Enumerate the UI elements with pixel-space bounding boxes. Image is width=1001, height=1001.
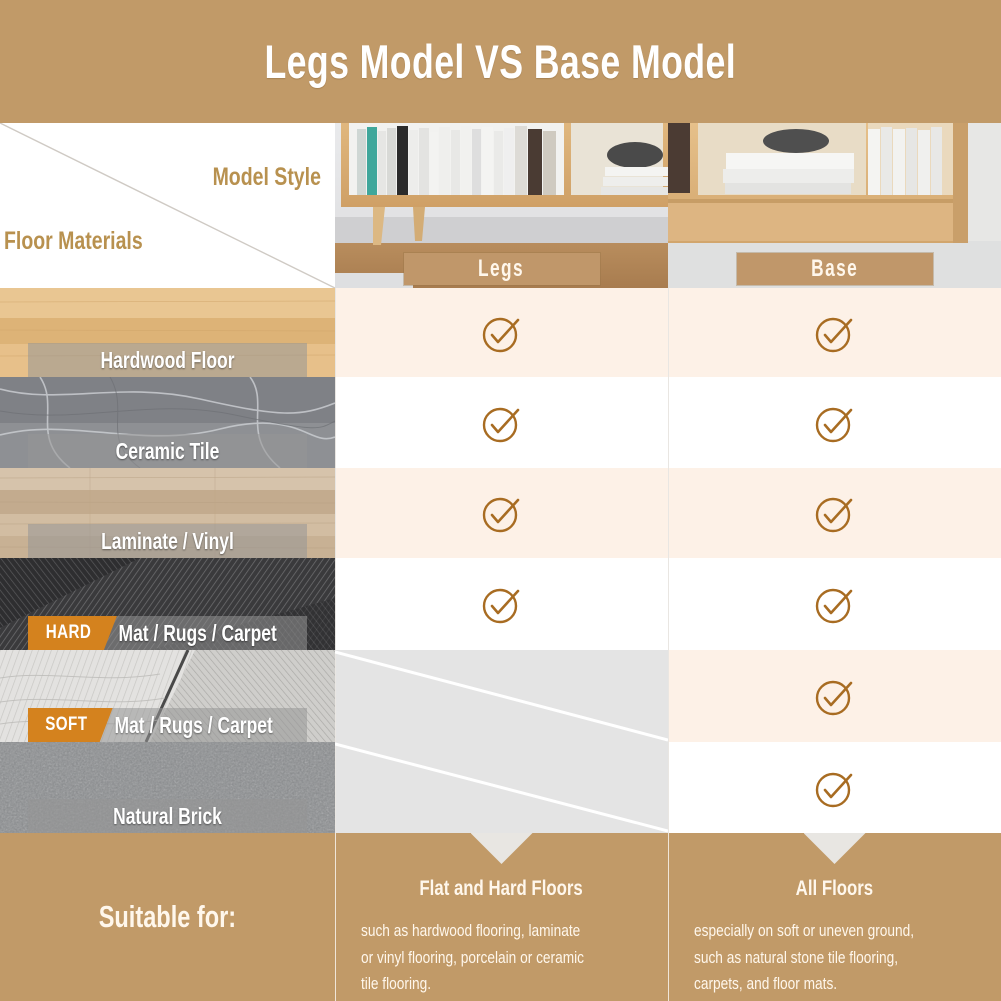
badge-hard: HARD: [28, 616, 117, 650]
column-label-base: Base: [811, 255, 858, 283]
row-label-ceramic: Ceramic Tile: [61, 438, 273, 465]
column-banner-base: Base: [737, 253, 933, 285]
check-circle-icon: [812, 400, 858, 446]
check-circle-icon: [812, 765, 858, 811]
comparison-table: Model Style Floor Materials: [0, 123, 1001, 833]
check-circle-icon: [812, 581, 858, 627]
notch-base: [804, 833, 866, 864]
cell-legs-hard-carpet: [335, 558, 668, 650]
footer-legs-body: such as hardwood flooring, laminate or v…: [361, 918, 642, 998]
suitable-for-label: Suitable for:: [99, 899, 236, 935]
badge-soft: SOFT: [28, 708, 113, 742]
column-banner-legs: Legs: [404, 253, 600, 285]
model-style-label: Model Style: [213, 163, 321, 192]
row-label-strip: Ceramic Tile: [28, 434, 307, 468]
floor-materials-label: Floor Materials: [4, 227, 143, 256]
footer-left-cell: Suitable for:: [0, 833, 335, 1001]
check-circle-icon: [479, 400, 525, 446]
footer-legs-heading: Flat and Hard Floors: [361, 877, 642, 901]
row-swatch-ceramic: Ceramic Tile: [0, 377, 335, 468]
cell-base-ceramic: [668, 377, 1001, 468]
check-circle-icon: [812, 673, 858, 719]
row-label-soft-carpet: Mat / Rugs / Carpet: [113, 712, 273, 739]
cell-legs-laminate: [335, 468, 668, 558]
not-supported-slash-icon: [335, 742, 668, 833]
row-label-strip: Hardwood Floor: [28, 343, 307, 377]
check-circle-icon: [479, 581, 525, 627]
row-label-natural-brick: Natural Brick: [61, 803, 273, 830]
check-circle-icon: [812, 310, 858, 356]
row-label-hard-carpet: Mat / Rugs / Carpet: [117, 620, 277, 647]
cell-base-hardwood: [668, 288, 1001, 377]
footer-legs-cell: Flat and Hard Floors such as hardwood fl…: [335, 833, 668, 1001]
title-bar: Legs Model VS Base Model: [0, 0, 1001, 123]
footer-base-heading: All Floors: [694, 877, 975, 901]
cell-legs-ceramic: [335, 377, 668, 468]
check-circle-icon: [812, 490, 858, 536]
row-swatch-soft-carpet: SOFT Mat / Rugs / Carpet: [0, 650, 335, 742]
header-photo-legs: Legs: [335, 123, 668, 288]
column-label-legs: Legs: [478, 255, 524, 283]
row-label-strip: Natural Brick: [28, 799, 307, 833]
cell-legs-soft-carpet: [335, 650, 668, 742]
footer-base-body: especially on soft or uneven ground, suc…: [694, 918, 975, 998]
header-photo-base: Base: [668, 123, 1001, 288]
row-label-laminate: Laminate / Vinyl: [61, 528, 273, 555]
row-swatch-hardwood: Hardwood Floor: [0, 288, 335, 377]
not-supported-slash-icon: [335, 650, 668, 742]
row-label-strip: Laminate / Vinyl: [28, 524, 307, 558]
comparison-infographic: Legs Model VS Base Model Model Style Flo…: [0, 0, 1001, 1001]
corner-diagonal-divider: [0, 123, 335, 288]
cell-base-natural-brick: [668, 742, 1001, 833]
corner-header-cell: Model Style Floor Materials: [0, 123, 335, 288]
row-label-hardwood: Hardwood Floor: [61, 347, 273, 374]
cell-base-soft-carpet: [668, 650, 1001, 742]
row-label-strip: SOFT Mat / Rugs / Carpet: [28, 708, 307, 742]
cell-base-hard-carpet: [668, 558, 1001, 650]
row-swatch-laminate: Laminate / Vinyl: [0, 468, 335, 558]
check-circle-icon: [479, 310, 525, 356]
page-title: Legs Model VS Base Model: [265, 34, 737, 89]
check-circle-icon: [479, 490, 525, 536]
footer-summary: Suitable for: Flat and Hard Floors such …: [0, 833, 1001, 1001]
cell-legs-hardwood: [335, 288, 668, 377]
notch-legs: [471, 833, 533, 864]
cell-legs-natural-brick: [335, 742, 668, 833]
row-label-strip: HARD Mat / Rugs / Carpet: [28, 616, 307, 650]
row-swatch-natural-brick: Natural Brick: [0, 742, 335, 833]
row-swatch-hard-carpet: HARD Mat / Rugs / Carpet: [0, 558, 335, 650]
cell-base-laminate: [668, 468, 1001, 558]
footer-base-cell: All Floors especially on soft or uneven …: [668, 833, 1001, 1001]
